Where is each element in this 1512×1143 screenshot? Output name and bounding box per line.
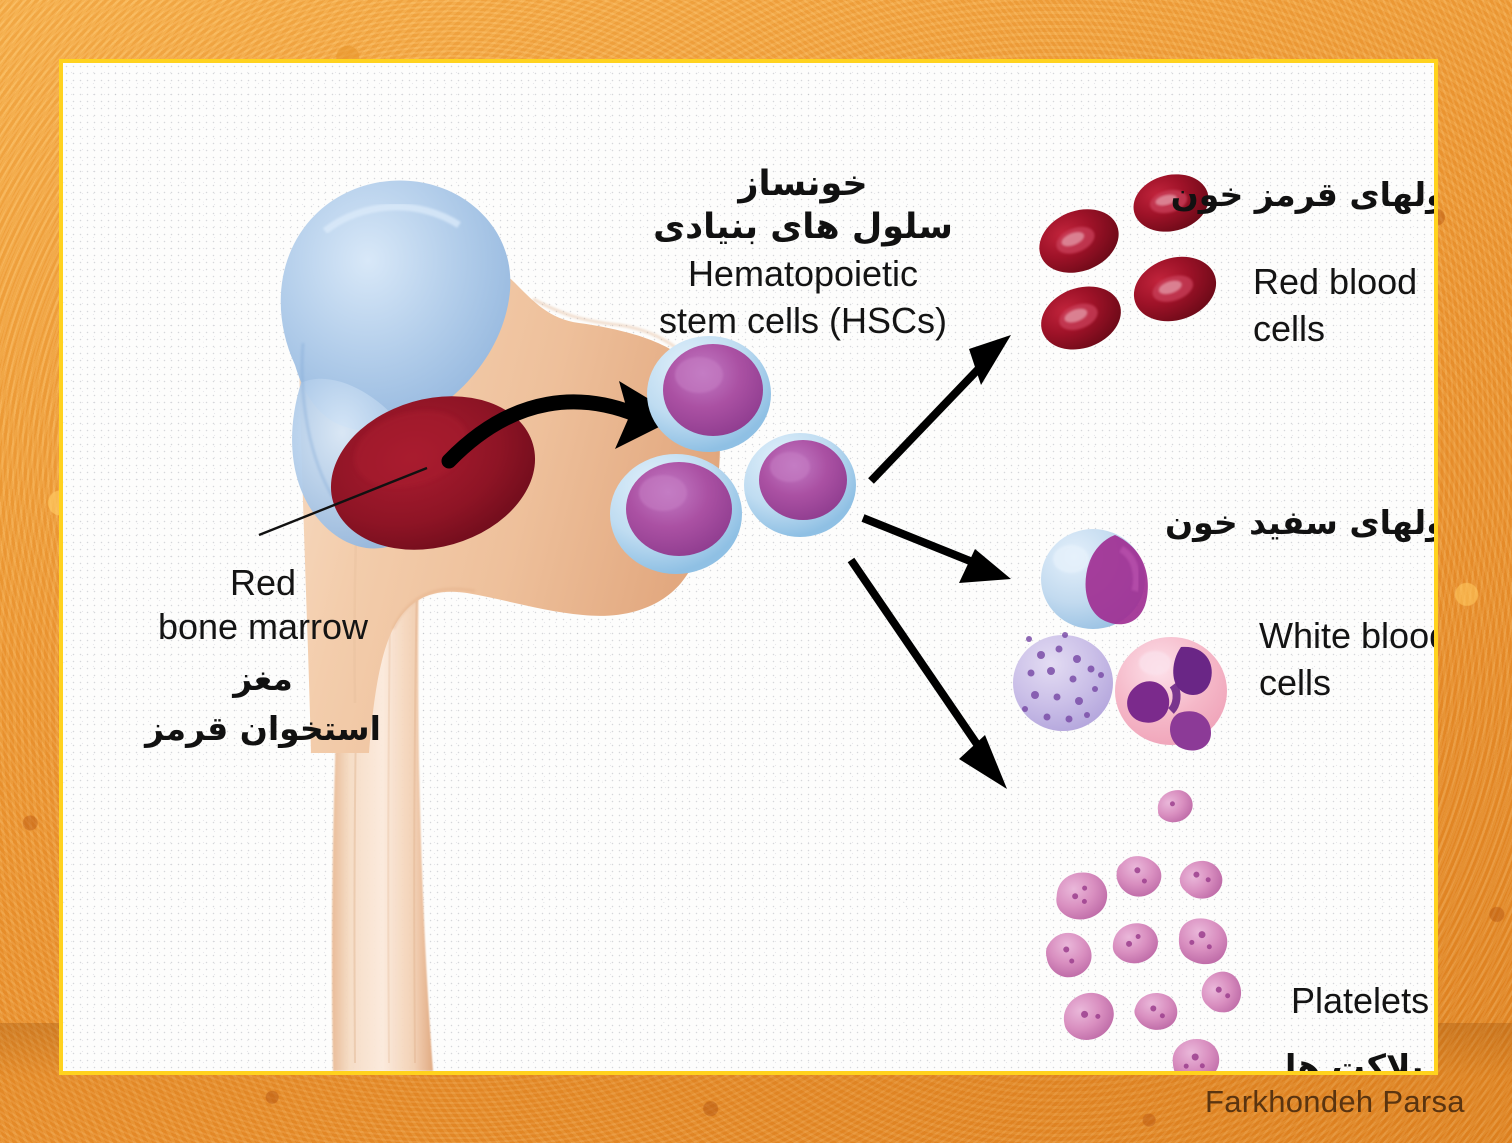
platelet <box>1111 850 1166 902</box>
red-blood-cells-label-en: Red blood cells <box>1253 259 1417 353</box>
marrow-label-en-line1: Red <box>123 561 403 605</box>
white-blood-cells-label-fa: گلبولهای سفید خون <box>1093 503 1438 543</box>
platelet <box>1051 868 1111 924</box>
platelet <box>1038 925 1099 985</box>
lymphocyte-cell <box>1041 529 1148 629</box>
arrow-hsc-to-platelets <box>851 560 1007 789</box>
hsc-title-fa-line2: سلول های بنیادی <box>623 206 983 249</box>
basophil-cell <box>1013 632 1113 731</box>
platelet-group <box>1038 786 1249 1075</box>
hsc-title-block: خونساز سلول های بنیادی Hematopoietic ste… <box>623 163 983 341</box>
platelet <box>1170 1037 1221 1075</box>
red-blood-cell <box>1125 247 1224 332</box>
rbc-label-fa-text: گلبولهای قرمز خون <box>1103 175 1438 215</box>
marrow-label-en-line2: bone marrow <box>123 605 403 649</box>
wbc-label-en-line1: White blood <box>1259 613 1438 660</box>
platelet <box>1132 990 1180 1033</box>
platelet <box>1194 965 1250 1021</box>
credit-text: Farkhondeh Parsa <box>1205 1084 1465 1120</box>
marrow-label-fa-line1: مغز <box>123 659 403 699</box>
diagram-canvas: Farkhondeh Parsa <box>0 0 1512 1143</box>
rbc-label-en-line2: cells <box>1253 306 1417 353</box>
hsc-title-fa-line1: خونساز <box>623 163 983 206</box>
wbc-label-en-line2: cells <box>1259 660 1438 707</box>
hsc-cell <box>610 454 742 574</box>
rbc-label-en-line1: Red blood <box>1253 259 1417 306</box>
white-blood-cells-label-en: White blood cells <box>1259 613 1438 707</box>
hsc-title-en-line1: Hematopoietic <box>623 254 983 294</box>
white-blood-cell-group <box>1013 529 1227 751</box>
arrow-hsc-to-rbc <box>871 335 1011 481</box>
platelet <box>1153 786 1198 828</box>
red-blood-cells-label-fa: گلبولهای قرمز خون <box>1103 175 1438 215</box>
red-bone-marrow-label-block: Red bone marrow مغز استخوان قرمز <box>123 561 403 749</box>
wbc-label-fa-text: گلبولهای سفید خون <box>1093 503 1438 543</box>
platelet <box>1174 853 1228 906</box>
hsc-cell <box>647 336 771 452</box>
platelet <box>1174 913 1233 969</box>
red-blood-cell <box>1032 276 1130 360</box>
illustration-frame: خونساز سلول های بنیادی Hematopoietic ste… <box>59 59 1438 1075</box>
hsc-title-en-line2: stem cells (HSCs) <box>623 301 983 341</box>
platelet <box>1110 920 1161 966</box>
arrow-hsc-to-wbc <box>863 518 1011 583</box>
platelet <box>1057 987 1120 1047</box>
marrow-label-fa-line2: استخوان قرمز <box>123 709 403 749</box>
platelets-label-fa: پلاکت ها <box>1285 1047 1423 1075</box>
hsc-cell <box>744 433 856 537</box>
neutrophil-cell <box>1115 637 1227 751</box>
platelets-label-en: Platelets <box>1291 981 1429 1021</box>
